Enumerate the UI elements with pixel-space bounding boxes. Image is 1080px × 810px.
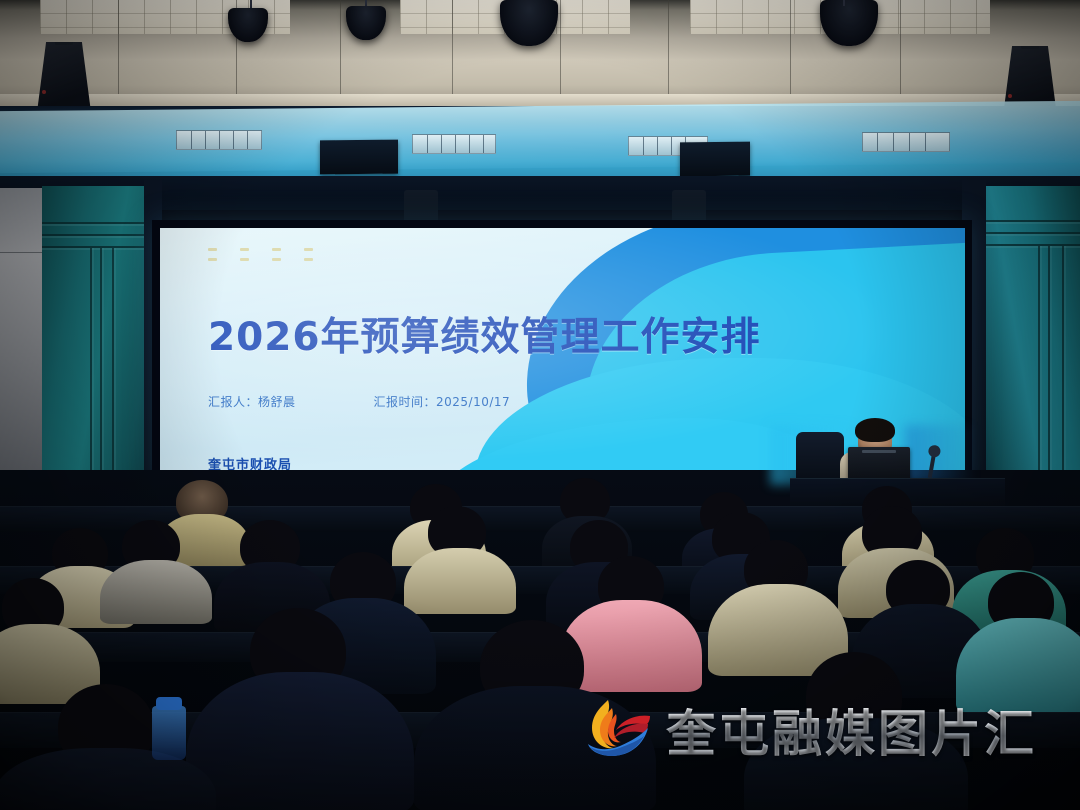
ceiling-seam: [900, 0, 901, 100]
ceiling-dark-panel: [680, 142, 750, 177]
ceiling-seam: [560, 0, 561, 100]
ceiling-seam: [452, 0, 453, 100]
ceiling-seam: [340, 0, 341, 100]
slide-title: 2026年预算绩效管理工作安排: [208, 306, 761, 362]
slide-date-label: 汇报时间：2025/10/17: [374, 393, 511, 410]
watermark-text: 奎屯融媒图片汇: [666, 694, 1037, 766]
ceiling-dark-panel: [320, 140, 398, 175]
air-vent: [862, 132, 950, 152]
right-teal-wall-panel: [986, 186, 1080, 504]
air-vent: [176, 130, 262, 150]
flame-swoosh-logo: [578, 694, 654, 766]
conference-hall-photo: 2026年预算绩效管理工作安排 汇报人：杨舒晨 汇报时间：2025/10/17 …: [0, 0, 1080, 810]
presenter-hair: [855, 418, 895, 442]
left-gray-wall: [0, 188, 44, 498]
left-teal-wall-panel: [42, 186, 144, 504]
audience-person: [186, 672, 414, 810]
presenter-chair: [796, 432, 844, 484]
slide-decorative-dots: [208, 248, 322, 261]
stage-light-right: [905, 425, 975, 483]
audience-person: [100, 560, 212, 624]
slide-presenter-label: 汇报人：杨舒晨: [208, 393, 296, 410]
ceiling-seam: [118, 0, 119, 100]
water-bottle: [152, 706, 186, 760]
slide-meta-row: 汇报人：杨舒晨 汇报时间：2025/10/17: [208, 393, 510, 410]
ceiling-seam: [790, 0, 791, 100]
soffit-lower-lip: [0, 176, 1080, 210]
watermark: 奎屯融媒图片汇: [578, 694, 1037, 766]
audience-person: [404, 548, 516, 614]
ceiling-seam: [668, 0, 669, 100]
air-vent: [412, 134, 496, 154]
presenter-laptop: [848, 447, 910, 481]
